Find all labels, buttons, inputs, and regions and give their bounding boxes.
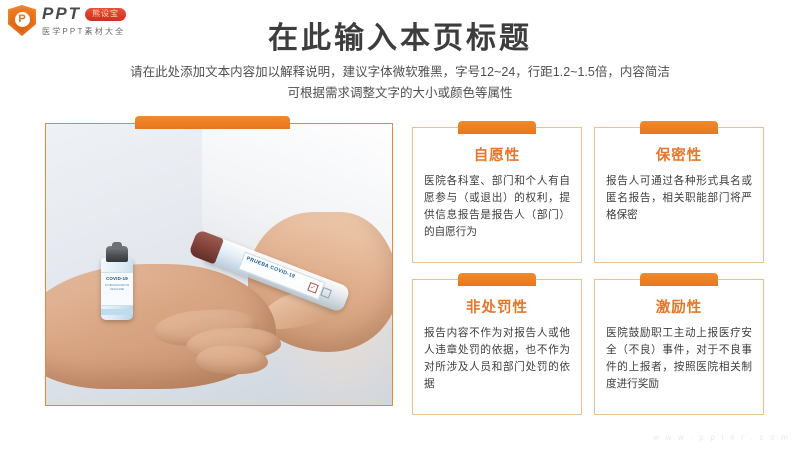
card-title: 自愿性 (413, 144, 581, 165)
info-card-non-punitive[interactable]: 非处罚性 报告内容不作为对报告人或他人违章处罚的依据，也不作为对所涉及人员和部门… (412, 279, 582, 415)
card-title: 激励性 (595, 296, 763, 317)
info-card-confidential[interactable]: 保密性 报告人可通过各种形式具名或匿名报告，相关职能部门将严格保密 (594, 127, 764, 263)
slide-canvas: P PPT 熊设宝 医学PPT素材大全 在此输入本页标题 请在此处添加文本内容加… (0, 0, 800, 450)
vial-cap-icon (106, 246, 128, 262)
card-body: 医院鼓励职工主动上报医疗安全（不良）事件，对于不良事件的上报者，按照医院相关制度… (606, 325, 752, 393)
card-body: 医院各科室、部门和个人有自愿参与（或退出）的权利，提供信息报告是报告人（部门）的… (424, 173, 570, 241)
card-accent-tab (458, 273, 536, 286)
checkbox-empty-icon (320, 287, 332, 299)
subtitle-line-2: 可根据需求调整文字的大小或颜色等属性 (0, 83, 800, 104)
photo-frame: COVID-19 CORONAVIRUS VACCINE PRUEBA COVI… (45, 123, 393, 406)
vaccine-vial: COVID-19 CORONAVIRUS VACCINE (101, 258, 133, 320)
card-body: 报告人可通过各种形式具名或匿名报告，相关职能部门将严格保密 (606, 173, 752, 224)
vial-label-sub: CORONAVIRUS VACCINE (101, 283, 133, 291)
vial-band (101, 309, 133, 315)
page-subtitle: 请在此处添加文本内容加以解释说明，建议字体微软雅黑，字号12~24，行距1.2~… (0, 62, 800, 104)
subtitle-line-1: 请在此处添加文本内容加以解释说明，建议字体微软雅黑，字号12~24，行距1.2~… (0, 62, 800, 83)
card-accent-tab (640, 121, 718, 134)
info-card-incentive[interactable]: 激励性 医院鼓励职工主动上报医疗安全（不良）事件，对于不良事件的上报者，按照医院… (594, 279, 764, 415)
photo-image: COVID-19 CORONAVIRUS VACCINE PRUEBA COVI… (46, 124, 392, 405)
card-body: 报告内容不作为对报告人或他人违章处罚的依据，也不作为对所涉及人员和部门处罚的依据 (424, 325, 570, 393)
card-accent-tab (640, 273, 718, 286)
checkbox-checked-icon: ✓ (307, 282, 319, 294)
card-title: 非处罚性 (413, 296, 581, 317)
vial-label: COVID-19 CORONAVIRUS VACCINE (101, 272, 133, 306)
card-title: 保密性 (595, 144, 763, 165)
page-title: 在此输入本页标题 (0, 13, 800, 57)
vial-label-title: COVID-19 (106, 276, 128, 281)
site-watermark: w w w . p p t e r . c o m (653, 433, 790, 442)
photo-accent-tab (135, 116, 290, 129)
card-accent-tab (458, 121, 536, 134)
info-card-voluntary[interactable]: 自愿性 医院各科室、部门和个人有自愿参与（或退出）的权利，提供信息报告是报告人（… (412, 127, 582, 263)
